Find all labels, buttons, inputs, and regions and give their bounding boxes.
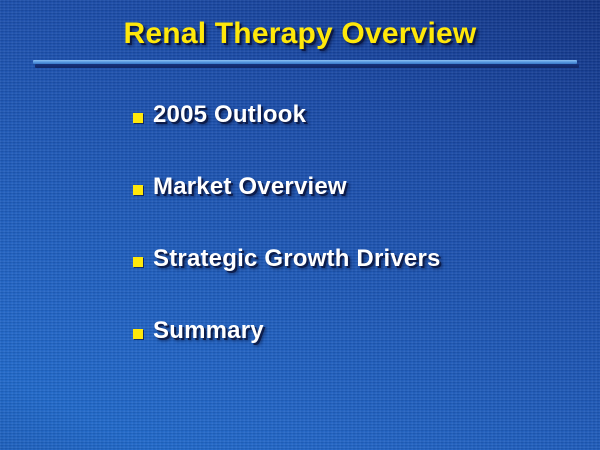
list-item: Summary bbox=[133, 317, 573, 389]
presentation-slide: Renal Therapy Overview 2005 Outlook Mark… bbox=[0, 0, 600, 450]
list-item: Market Overview bbox=[133, 173, 573, 245]
rule-shadow bbox=[35, 64, 579, 68]
list-item: 2005 Outlook bbox=[133, 101, 573, 173]
square-bullet-icon bbox=[133, 113, 143, 123]
square-bullet-icon bbox=[133, 329, 143, 339]
title-divider-rule bbox=[33, 60, 577, 68]
bullet-label-growth-drivers: Strategic Growth Drivers bbox=[153, 245, 441, 273]
square-bullet-icon bbox=[133, 257, 143, 267]
square-bullet-icon bbox=[133, 185, 143, 195]
bullet-label-summary: Summary bbox=[153, 317, 264, 345]
bullet-label-outlook: 2005 Outlook bbox=[153, 101, 306, 129]
list-item: Strategic Growth Drivers bbox=[133, 245, 573, 317]
slide-title: Renal Therapy Overview bbox=[0, 17, 600, 51]
bullet-label-market-overview: Market Overview bbox=[153, 173, 347, 201]
bullet-list: 2005 Outlook Market Overview Strategic G… bbox=[133, 101, 573, 389]
